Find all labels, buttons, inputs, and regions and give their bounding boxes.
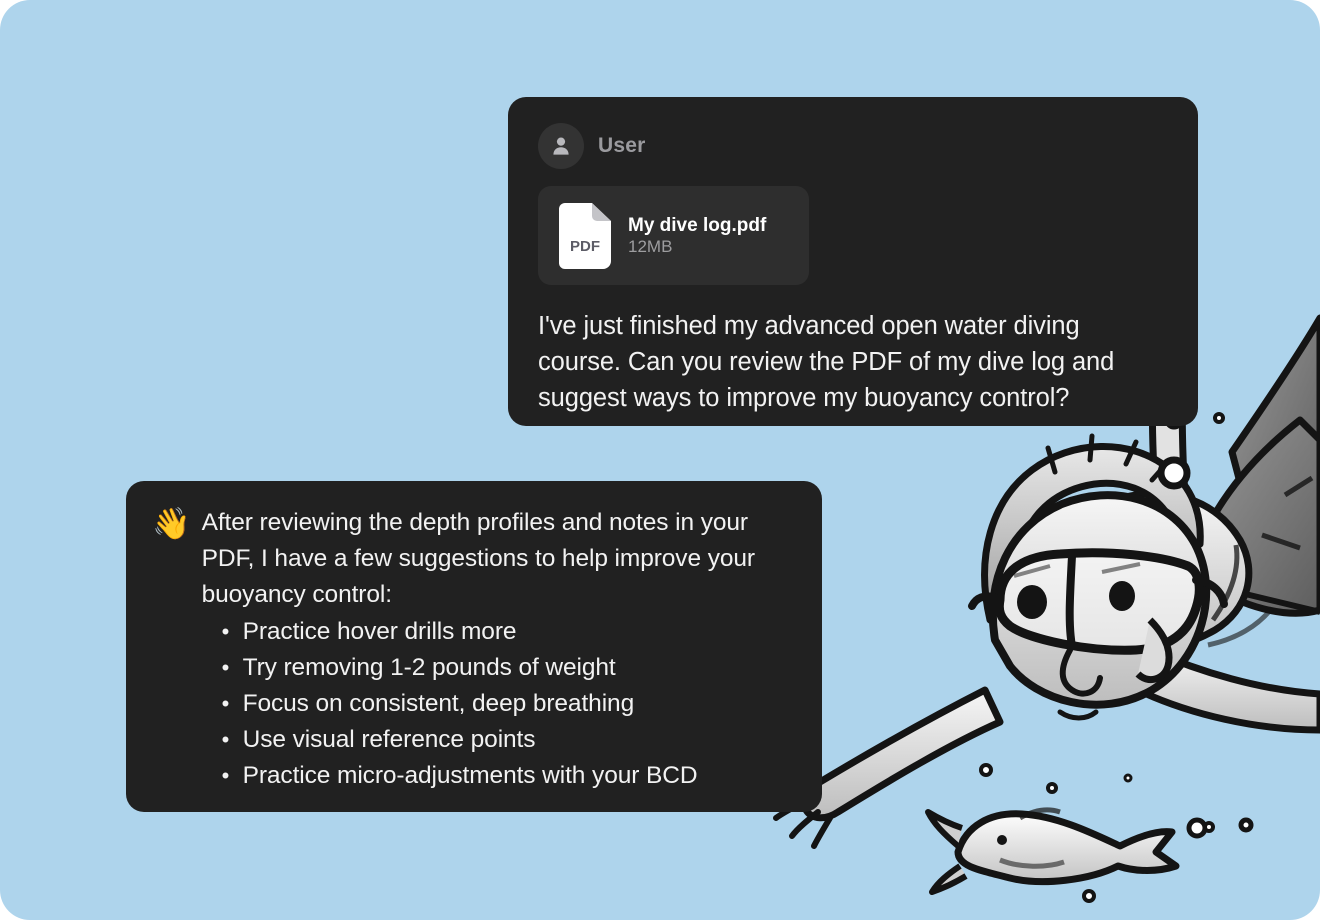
list-item: Practice micro-adjustments with your BCD — [202, 758, 792, 794]
list-item: Focus on consistent, deep breathing — [202, 686, 792, 722]
waving-hand-emoji: 👋 — [152, 505, 191, 542]
file-attachment-card[interactable]: PDF My dive log.pdf 12MB — [538, 186, 809, 285]
suggestion-list: Practice hover drills more Try removing … — [202, 614, 792, 794]
fish-illustration — [928, 810, 1176, 892]
file-meta: My dive log.pdf 12MB — [628, 215, 789, 257]
message-author-name: User — [598, 134, 646, 158]
app-canvas: User PDF My dive log.pdf 12MB I've just … — [0, 0, 1320, 920]
assistant-message-bubble: 👋 After reviewing the depth profiles and… — [126, 481, 822, 812]
list-item: Try removing 1-2 pounds of weight — [202, 650, 792, 686]
assistant-intro-text: After reviewing the depth profiles and n… — [202, 505, 792, 613]
user-header: User — [538, 123, 1168, 169]
list-item: Use visual reference points — [202, 722, 792, 758]
air-bubbles — [981, 388, 1251, 901]
svg-text:PDF: PDF — [570, 238, 600, 255]
pdf-file-icon: PDF — [559, 203, 611, 269]
user-message-bubble: User PDF My dive log.pdf 12MB I've just … — [508, 97, 1198, 426]
assistant-body: 👋 After reviewing the depth profiles and… — [152, 505, 792, 794]
user-message-text: I've just finished my advanced open wate… — [538, 308, 1168, 416]
file-size: 12MB — [628, 237, 672, 256]
assistant-text-column: After reviewing the depth profiles and n… — [202, 505, 792, 794]
person-avatar-icon — [538, 123, 584, 169]
file-name: My dive log.pdf — [628, 215, 766, 236]
list-item: Practice hover drills more — [202, 614, 792, 650]
